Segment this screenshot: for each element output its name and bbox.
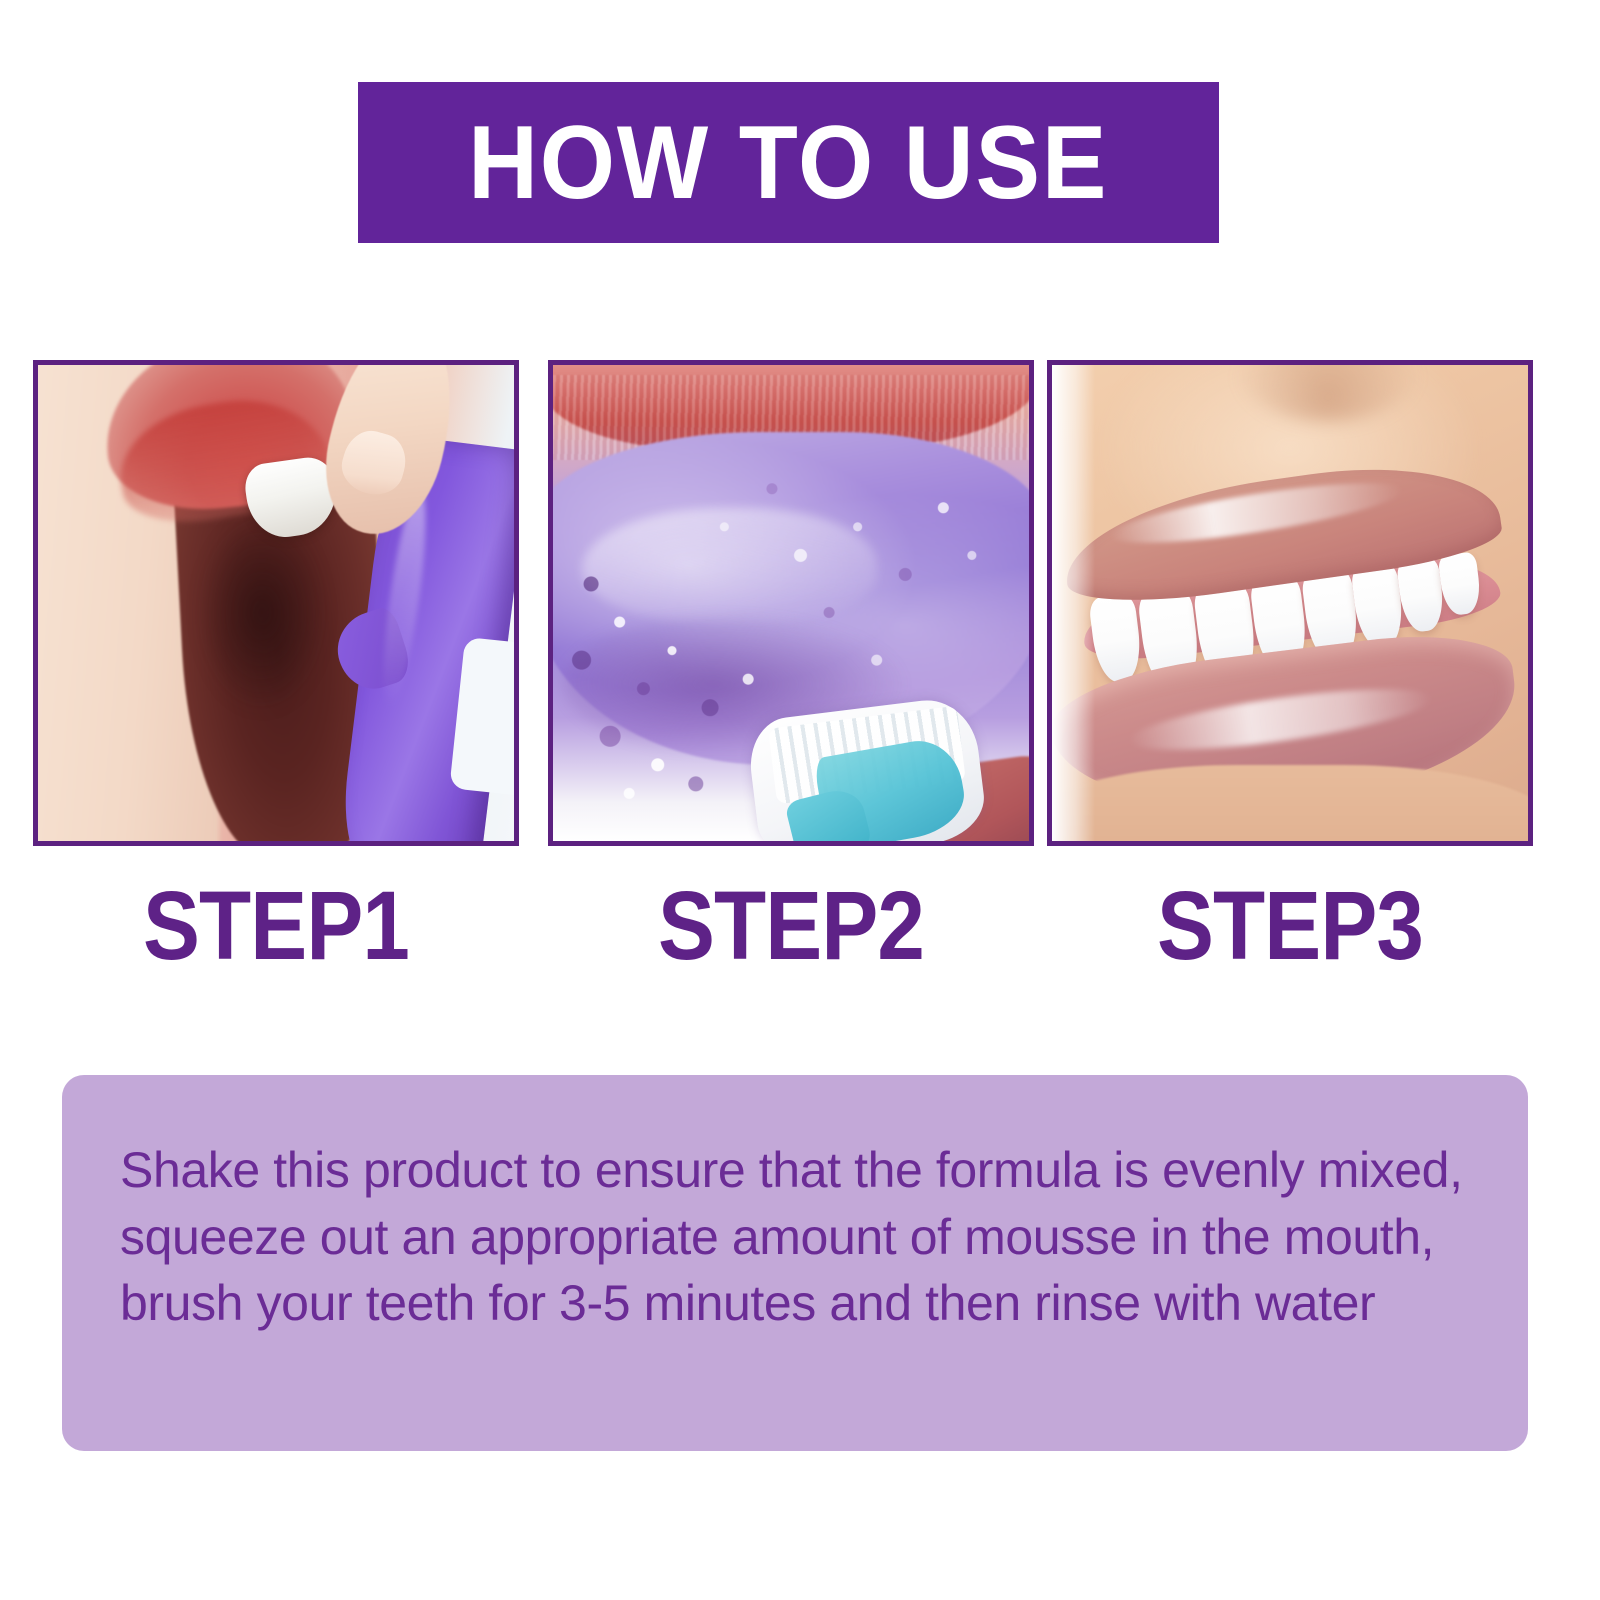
chin: [1052, 765, 1528, 841]
tooth: [1438, 552, 1483, 617]
step3-photo: [1052, 365, 1528, 841]
step-images-row: [33, 360, 1533, 846]
step2-label: STEP2: [577, 866, 1005, 986]
instructions-box: Shake this product to ensure that the fo…: [62, 1075, 1528, 1451]
step2-photo: [553, 365, 1029, 841]
left-edge-fade: [1052, 365, 1095, 841]
step2-image-panel: [548, 360, 1034, 846]
header-banner: HOW TO USE: [358, 82, 1219, 243]
step1-image-panel: [33, 360, 519, 846]
step-labels-row: STEP1 STEP2 STEP3: [33, 866, 1533, 986]
step1-label: STEP1: [62, 866, 490, 986]
how-to-use-infographic: HOW TO USE: [0, 0, 1600, 1600]
tooth: [1089, 594, 1145, 685]
mouth-inner-shadow: [200, 517, 324, 707]
step1-photo: [38, 365, 514, 841]
step3-image-panel: [1047, 360, 1533, 846]
instructions-text: Shake this product to ensure that the fo…: [120, 1137, 1472, 1337]
step3-label: STEP3: [1076, 866, 1504, 986]
page-title: HOW TO USE: [468, 111, 1108, 215]
